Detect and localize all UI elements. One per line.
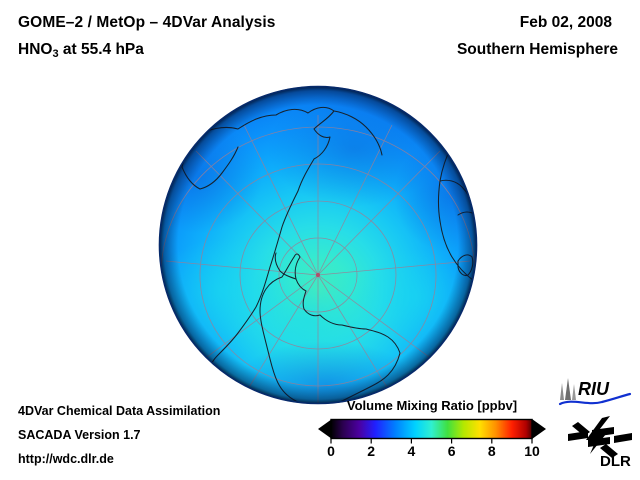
species-label: HNO <box>18 41 52 58</box>
colorbar-tick-6: 6 <box>448 443 456 459</box>
riu-tower-icon <box>560 378 576 400</box>
colorbar: Volume Mixing Ratio [ppbv] 0246810 <box>312 398 552 468</box>
colorbar-tick-8: 8 <box>488 443 496 459</box>
page-subtitle: HNO3 at 55.4 hPa <box>18 41 144 59</box>
riu-logo: RIU <box>558 374 632 408</box>
orthographic-projection-svg <box>158 85 478 405</box>
date-label: Feb 02, 2008 <box>520 14 612 32</box>
colorbar-tick-10: 10 <box>524 443 540 459</box>
pressure-level-label: at 55.4 hPa <box>59 41 144 58</box>
colorbar-right-arrow <box>532 419 546 439</box>
colorbar-scale <box>312 417 552 445</box>
colorbar-title: Volume Mixing Ratio [ppbv] <box>312 398 552 413</box>
colorbar-tick-0: 0 <box>327 443 335 459</box>
region-label: Southern Hemisphere <box>457 41 618 59</box>
dlr-wordmark: DLR <box>600 453 631 470</box>
south-pole-marker <box>316 273 320 277</box>
riu-wordmark: RIU <box>578 379 610 399</box>
globe-map <box>158 85 478 405</box>
colorbar-left-arrow <box>318 419 332 439</box>
footer-line-url[interactable]: http://wdc.dlr.de <box>18 452 114 466</box>
footer-line-assimilation: 4DVar Chemical Data Assimilation <box>18 404 220 418</box>
colorbar-tick-4: 4 <box>407 443 415 459</box>
page-title: GOME–2 / MetOp – 4DVar Analysis <box>18 14 276 32</box>
dlr-mark-icon <box>568 416 632 458</box>
colorbar-gradient <box>331 420 532 439</box>
footer-line-version: SACADA Version 1.7 <box>18 428 141 442</box>
colorbar-tick-labels: 0246810 <box>312 443 552 465</box>
globe-limb-shading <box>159 86 477 404</box>
dlr-logo: DLR <box>566 414 634 470</box>
colorbar-tick-2: 2 <box>367 443 375 459</box>
species-subscript: 3 <box>52 48 58 60</box>
